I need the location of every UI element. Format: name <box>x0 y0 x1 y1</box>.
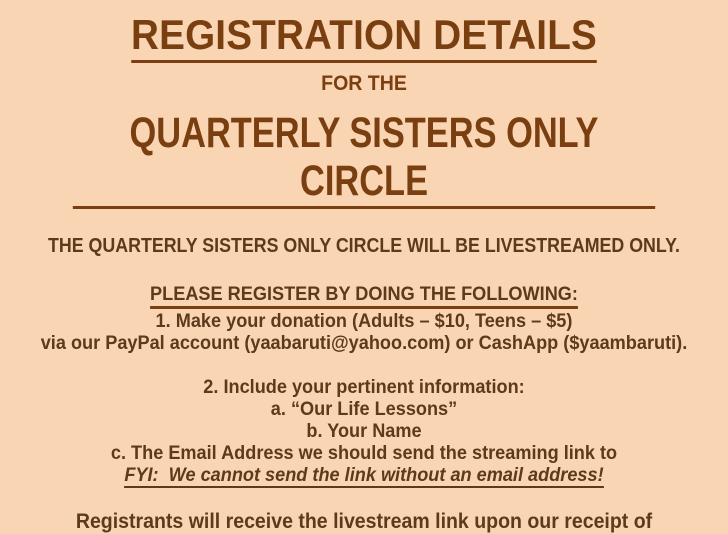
closing-block: Registrants will receive the livestream … <box>25 488 702 534</box>
page-title: REGISTRATION DETAILS <box>29 0 699 63</box>
info-item-name: b. Your Name <box>25 420 702 442</box>
step-payment-accounts: via our PayPal account (yaabaruti@yahoo.… <box>25 332 702 354</box>
closing-line-1: Registrants will receive the livestream … <box>25 510 702 534</box>
info-item-topic: a. “Our Life Lessons” <box>25 398 702 420</box>
register-heading: PLEASE REGISTER BY DOING THE FOLLOWING: <box>25 283 702 309</box>
event-name-heading: QUARTERLY SISTERS ONLY CIRCLE <box>73 96 655 209</box>
info-heading: 2. Include your pertinent information: <box>25 376 702 398</box>
step-donation-amounts: 1. Make your donation (Adults – $10, Tee… <box>25 310 702 332</box>
fyi-note-text: FYI: We cannot send the link without an … <box>124 464 603 488</box>
registration-steps-block: PLEASE REGISTER BY DOING THE FOLLOWING: … <box>25 258 702 354</box>
livestream-notice: THE QUARTERLY SISTERS ONLY CIRCLE WILL B… <box>40 209 688 258</box>
event-name-text: QUARTERLY SISTERS ONLY CIRCLE <box>73 109 655 209</box>
fyi-note: FYI: We cannot send the link without an … <box>25 464 702 488</box>
subtitle-for-the: FOR THE <box>25 63 702 96</box>
pertinent-info-block: 2. Include your pertinent information: a… <box>25 354 702 488</box>
info-item-email: c. The Email Address we should send the … <box>25 442 702 464</box>
page-title-text: REGISTRATION DETAILS <box>131 11 597 63</box>
register-heading-text: PLEASE REGISTER BY DOING THE FOLLOWING: <box>150 283 578 309</box>
registration-flyer: REGISTRATION DETAILS FOR THE QUARTERLY S… <box>0 0 728 534</box>
